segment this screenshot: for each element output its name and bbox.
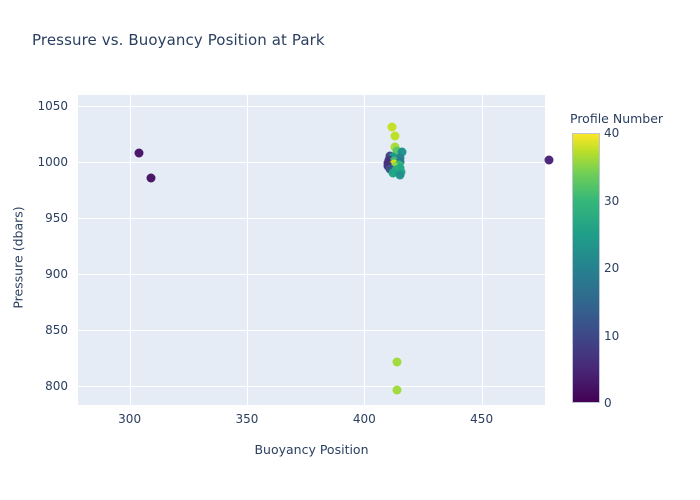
data-point[interactable] (387, 122, 396, 131)
x-tick-label: 350 (236, 412, 259, 426)
data-point[interactable] (390, 132, 399, 141)
gridline-vertical (482, 95, 483, 405)
colorbar-tick-label: 40 (604, 126, 619, 140)
gridline-vertical (130, 95, 131, 405)
colorbar-tick-label: 0 (604, 396, 612, 410)
colorbar-gradient (572, 133, 600, 403)
colorbar-title: Profile Number (570, 111, 663, 126)
gridline-horizontal (78, 274, 545, 275)
chart-title: Pressure vs. Buoyancy Position at Park (32, 31, 325, 49)
y-tick-label: 800 (22, 379, 68, 393)
x-tick-label: 300 (118, 412, 141, 426)
colorbar-tick-label: 10 (604, 329, 619, 343)
colorbar-tick-label: 30 (604, 194, 619, 208)
y-tick-label: 850 (22, 323, 68, 337)
plot-area[interactable] (78, 95, 545, 405)
gridline-vertical (247, 95, 248, 405)
colorbar-tick-label: 20 (604, 261, 619, 275)
x-axis-title: Buoyancy Position (78, 442, 545, 457)
gridline-horizontal (78, 330, 545, 331)
data-point[interactable] (392, 385, 401, 394)
y-tick-label: 1050 (22, 99, 68, 113)
y-tick-label: 900 (22, 267, 68, 281)
x-tick-label: 400 (353, 412, 376, 426)
data-point[interactable] (395, 170, 404, 179)
data-point[interactable] (544, 155, 553, 164)
data-point[interactable] (392, 358, 401, 367)
data-point[interactable] (134, 148, 143, 157)
x-tick-label: 450 (470, 412, 493, 426)
gridline-horizontal (78, 106, 545, 107)
y-tick-label: 1000 (22, 155, 68, 169)
data-point[interactable] (147, 173, 156, 182)
gridline-horizontal (78, 218, 545, 219)
gridline-horizontal (78, 386, 545, 387)
gridline-horizontal (78, 162, 545, 163)
chart-root: Pressure vs. Buoyancy Position at Park 3… (0, 0, 700, 500)
y-tick-label: 950 (22, 211, 68, 225)
y-axis-title: Pressure (dbars) (11, 158, 26, 358)
gridline-vertical (364, 95, 365, 405)
